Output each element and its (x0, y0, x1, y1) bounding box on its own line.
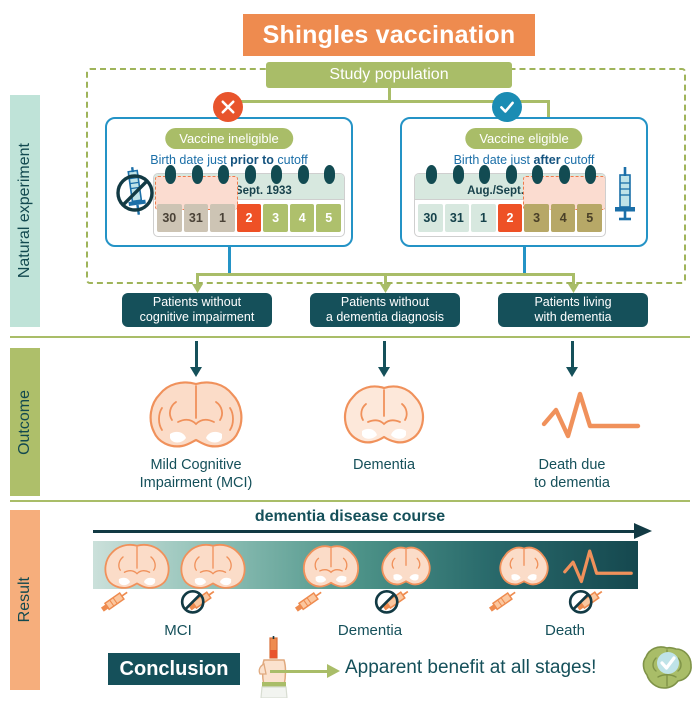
connector-cohort-arrowhead-3 (568, 284, 579, 293)
result-stage-label-death: Death (505, 622, 625, 639)
connector-cohort-arrowhead-1 (192, 284, 203, 293)
connector-arm-left-drop (228, 247, 231, 273)
brain-coronal-icon (484, 543, 564, 594)
conclusion-text: Apparent benefit at all stages! (345, 657, 596, 679)
section-label-outcome-text: Outcome (16, 390, 34, 455)
calendar-binder-ring (324, 165, 335, 184)
arrow-to-mci (195, 341, 198, 369)
connector-arm-right-drop (523, 247, 526, 273)
connector-cohort-branch-1 (196, 273, 199, 285)
calendar-day-cell: 1 (471, 204, 496, 232)
study-population-pill: Study population (266, 62, 512, 88)
divider-outcome-result (10, 500, 690, 502)
section-label-natural-experiment: Natural experiment (10, 95, 40, 327)
connector-cohort-branch-2 (384, 273, 387, 285)
calendar-binder-ring (506, 165, 517, 184)
disease-course-label: dementia disease course (0, 508, 700, 526)
calendar-binder-ring (245, 165, 256, 184)
calendar-day-cell: 30 (157, 204, 182, 232)
divider-natural-outcome (10, 336, 690, 338)
calendar-binder-ring (453, 165, 464, 184)
arm-pill-eligible: Vaccine eligible (465, 128, 582, 149)
syringe-icon (96, 588, 132, 621)
arrow-to-dementia (383, 341, 386, 369)
calendar-binder-ring (479, 165, 490, 184)
cohort-box-no-cognitive-impairment: Patients without cognitive impairment (122, 293, 272, 327)
infographic-root: Shingles vaccination Natural experiment … (0, 0, 700, 700)
calendar-day-cell: 4 (290, 204, 315, 232)
calendar-binder-ring (426, 165, 437, 184)
calendar-binder-ring (585, 165, 596, 184)
calendar-binder-ring (559, 165, 570, 184)
calendar-binder-rings (153, 165, 345, 185)
ecg-flatline-icon (540, 388, 644, 447)
calendar-binder-ring (218, 165, 229, 184)
result-stage-label-mci: MCI (118, 622, 238, 639)
arrow-to-death-head (566, 367, 578, 377)
calendar-day-cell: 4 (551, 204, 576, 232)
cohort-box-no-dementia-diagnosis: Patients without a dementia diagnosis (310, 293, 460, 327)
arrow-to-mci-head (190, 367, 202, 377)
arm-vaccine-ineligible: Vaccine ineligible Birth date just prior… (105, 117, 353, 247)
brain-coronal-icon (291, 543, 371, 594)
calendar-binder-ring (298, 165, 309, 184)
calendar-day-cell: 30 (418, 204, 443, 232)
section-label-result-text: Result (16, 577, 34, 622)
outcome-label-death: Death due to dementia (482, 456, 662, 492)
calendar-day-cell: 31 (445, 204, 470, 232)
brain-coronal-icon (142, 378, 250, 457)
section-label-natural-experiment-text: Natural experiment (16, 143, 34, 278)
study-population-label: Study population (329, 66, 448, 84)
result-stage-label-dementia: Dementia (310, 622, 430, 639)
arm-vaccine-eligible: Vaccine eligible Birth date just after c… (400, 117, 648, 247)
check-circle-icon (492, 92, 522, 122)
section-label-outcome: Outcome (10, 348, 40, 496)
arm-pill-ineligible: Vaccine ineligible (165, 128, 293, 149)
brain-coronal-icon (330, 378, 438, 457)
arm-pill-ineligible-label: Vaccine ineligible (179, 131, 279, 146)
arrow-to-death (571, 341, 574, 369)
calendar-days-eligible: 303112345 (415, 200, 605, 236)
syringe-crossed-out-icon (370, 584, 414, 623)
conclusion-arrow (270, 670, 328, 673)
cohort-box-living-with-dementia: Patients living with dementia (498, 293, 648, 327)
connector-cohort-arrowhead-2 (380, 284, 391, 293)
arm-pill-eligible-label: Vaccine eligible (479, 131, 568, 146)
syringe-icon (608, 165, 642, 226)
connector-cohort-branch-3 (572, 273, 575, 285)
page-title-text: Shingles vaccination (263, 21, 516, 50)
calendar-day-cell: 5 (316, 204, 341, 232)
page-title: Shingles vaccination (243, 14, 535, 56)
syringe-crossed-out-icon (176, 584, 220, 623)
conclusion-box: Conclusion (108, 653, 240, 685)
brain-check-icon (640, 644, 694, 699)
calendar-binder-ring (165, 165, 176, 184)
calendar-binder-ring (192, 165, 203, 184)
syringe-crossed-out-icon (113, 165, 157, 222)
outcome-label-mci: Mild Cognitive Impairment (MCI) (106, 456, 286, 492)
calendar-day-cell: 3 (524, 204, 549, 232)
calendar-day-cell: 31 (184, 204, 209, 232)
x-circle-icon (213, 92, 243, 122)
calendar-binder-rings (414, 165, 606, 185)
section-label-result: Result (10, 510, 40, 690)
brain-coronal-icon (97, 543, 177, 594)
conclusion-arrowhead (327, 664, 340, 678)
conclusion-label: Conclusion (120, 658, 229, 681)
calendar-binder-ring (532, 165, 543, 184)
connector-studypop-right (547, 100, 550, 118)
calendar-binder-ring (271, 165, 282, 184)
calendar-day-cell: 2 (498, 204, 523, 232)
outcome-label-dementia: Dementia (294, 456, 474, 474)
arrow-to-dementia-head (378, 367, 390, 377)
calendar-day-cell: 2 (237, 204, 262, 232)
disease-course-axis (93, 530, 638, 533)
syringe-icon (484, 588, 520, 621)
syringe-crossed-out-icon (564, 584, 608, 623)
calendar-day-cell: 3 (263, 204, 288, 232)
calendar-day-cell: 5 (577, 204, 602, 232)
calendar-day-cell: 1 (210, 204, 235, 232)
syringe-icon (290, 588, 326, 621)
